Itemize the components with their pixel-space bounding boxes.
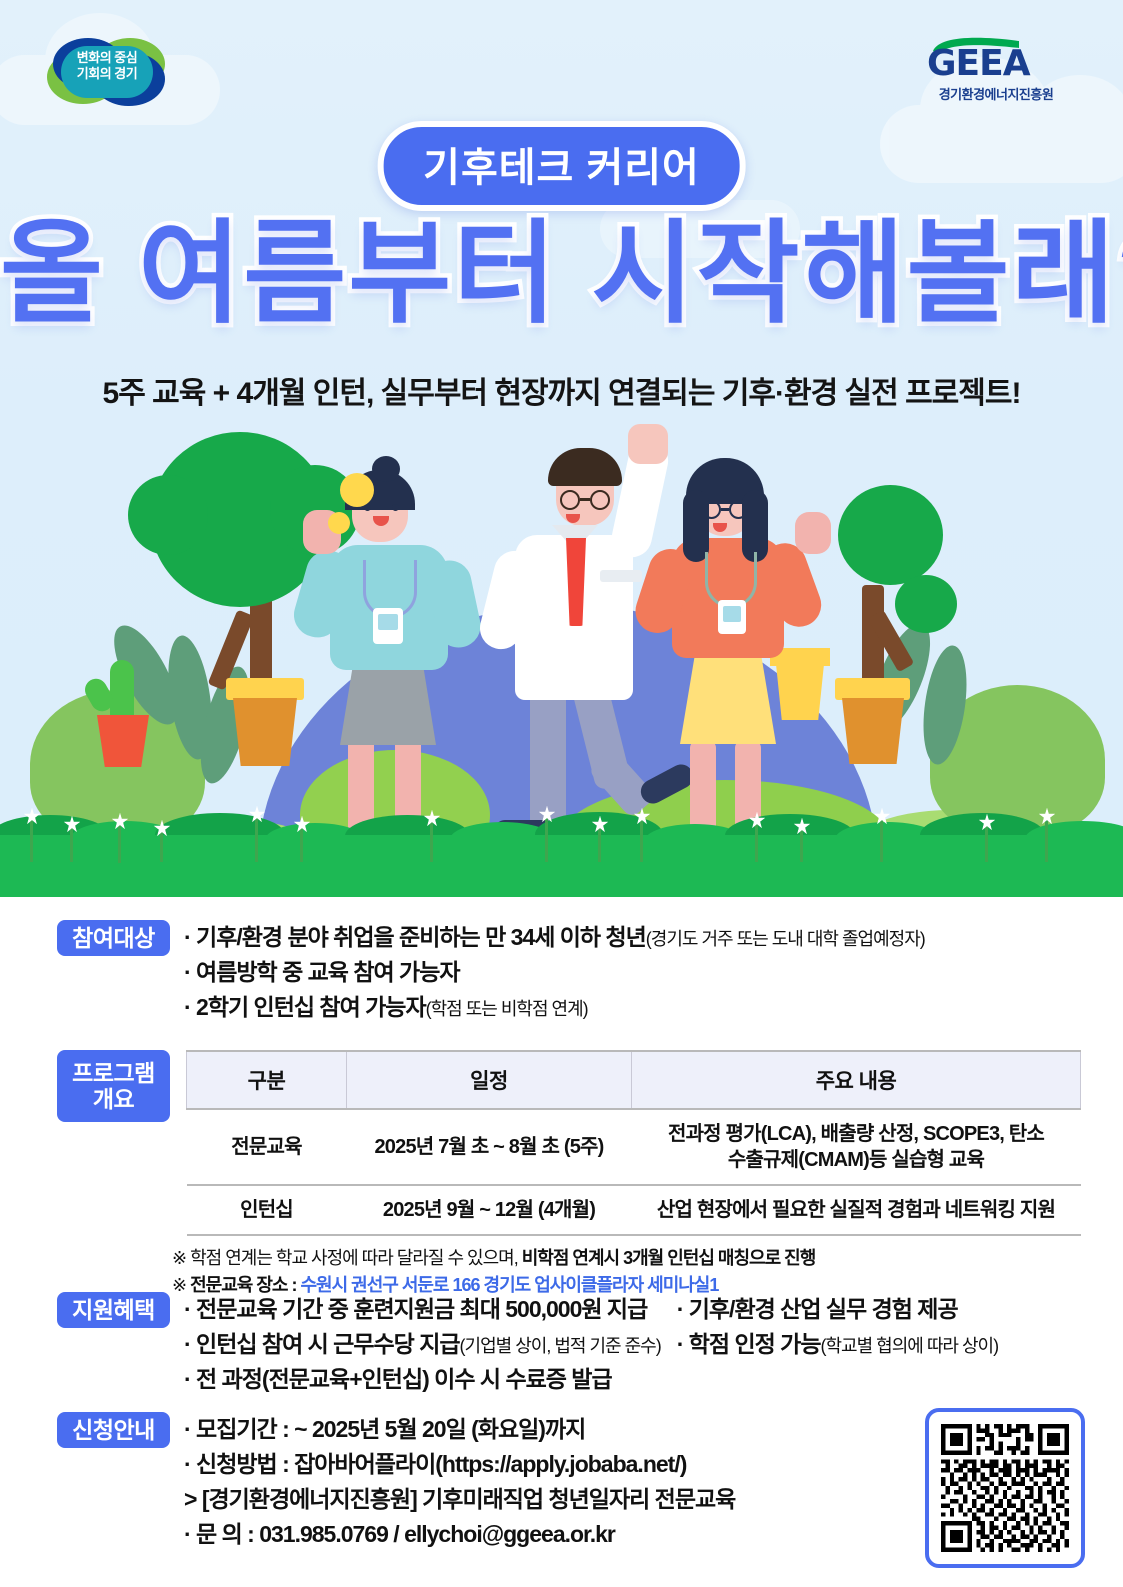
list-item: · 2학기 인턴십 참여 가능자(학점 또는 비학점 연계) — [184, 990, 925, 1025]
list-item-main: · 여름방학 중 교육 참여 가능자 — [184, 959, 460, 985]
flower-icon — [112, 813, 128, 829]
list-item-main: · 전 과정(전문교육+인턴십) 이수 시 수료증 발급 — [184, 1366, 612, 1392]
note-line: ※ 학점 연계는 학교 사정에 따라 달라질 수 있으며, 비학점 연계시 3개… — [172, 1245, 815, 1272]
table-cell: 산업 현장에서 필요한 실질적 경험과 네트워킹 지원 — [632, 1185, 1081, 1235]
ggeea-logo-mark-icon: GEEA — [921, 35, 1071, 81]
list-item: · 여름방학 중 교육 참여 가능자 — [184, 955, 925, 990]
flower-pot-rim — [226, 678, 304, 700]
list-item: > [경기환경에너지진흥원] 기후미래직업 청년일자리 전문교육 — [184, 1482, 735, 1517]
list-item-main: · 전문교육 기간 중 훈련지원금 최대 500,000원 지급 — [184, 1296, 647, 1322]
section-benefits: 지원혜택 · 전문교육 기간 중 훈련지원금 최대 500,000원 지급 · … — [57, 1292, 998, 1397]
list-item-main: · 학점 인정 가능 — [677, 1331, 821, 1357]
flower-icon — [424, 810, 440, 826]
flower-icon — [794, 818, 810, 834]
page-subtitle: 5주 교육 + 4개월 인턴, 실무부터 현장까지 연결되는 기후·환경 실전 … — [0, 368, 1123, 412]
ggeea-logo: GEEA 경기환경에너지진흥원 — [921, 35, 1071, 103]
list-item-main: · 2학기 인턴십 참여 가능자 — [184, 994, 426, 1020]
program-notes: ※ 학점 연계는 학교 사정에 따라 달라질 수 있으며, 비학점 연계시 3개… — [172, 1245, 815, 1299]
qr-code[interactable] — [925, 1408, 1085, 1568]
flower-icon — [979, 814, 995, 830]
table-cell: 2025년 7월 초 ~ 8월 초 (5주) — [347, 1109, 632, 1185]
flower-icon — [154, 820, 170, 836]
list-item: · 모집기간 : ~ 2025년 5월 20일 (화요일)까지 — [184, 1412, 735, 1447]
list-item-note: (경기도 거주 또는 도내 대학 졸업예정자) — [646, 929, 925, 949]
note-prefix: ※ 학점 연계는 학교 사정에 따라 달라질 수 있으며, — [172, 1248, 522, 1268]
list-item-main: · 기후/환경 산업 실무 경험 제공 — [677, 1296, 958, 1322]
flower-icon — [294, 816, 310, 832]
table-cell: 2025년 9월 ~ 12월 (4개월) — [347, 1185, 632, 1235]
tree-crown — [128, 475, 208, 555]
hero-banner: 변화의 중심 기회의 경기 GEEA 경기환경에너지진흥원 기후테크 커리어 올… — [0, 0, 1123, 897]
list-item-note: (학점 또는 비학점 연계) — [426, 999, 588, 1019]
note-bold: 비학점 연계시 3개월 인턴십 매칭으로 진행 — [522, 1248, 816, 1268]
list-item[interactable]: · 신청방법 : 잡아바어플라이(https://apply.jobaba.ne… — [184, 1447, 735, 1482]
section-target: 참여대상 · 기후/환경 분야 취업을 준비하는 만 34세 이하 청년(경기도… — [57, 920, 925, 1025]
table-row: 인턴십 2025년 9월 ~ 12월 (4개월) 산업 현장에서 필요한 실질적… — [187, 1185, 1081, 1235]
table-cell: 전과정 평가(LCA), 배출량 산정, SCOPE3, 탄소 수출규제(CMA… — [632, 1109, 1081, 1185]
flower-pot — [776, 664, 824, 720]
cloud-decoration — [880, 105, 1123, 183]
section-badge-program-line1: 프로그램 — [72, 1060, 155, 1086]
list-item-main: · 기후/환경 분야 취업을 준비하는 만 34세 이하 청년 — [184, 924, 646, 950]
flower-icon — [874, 808, 890, 824]
qr-code-icon — [941, 1424, 1069, 1552]
target-list: · 기후/환경 분야 취업을 준비하는 만 34세 이하 청년(경기도 거주 또… — [184, 920, 925, 1025]
list-item: · 전문교육 기간 중 훈련지원금 최대 500,000원 지급 — [184, 1292, 661, 1327]
illustration-scene — [0, 420, 1123, 897]
benefits-left-column: · 전문교육 기간 중 훈련지원금 최대 500,000원 지급 · 인턴십 참… — [184, 1292, 661, 1397]
list-item: · 학점 인정 가능(학교별 협의에 따라 상이) — [677, 1327, 998, 1362]
flower-icon — [592, 816, 608, 832]
table-header-cell: 구분 — [187, 1051, 347, 1109]
flower-icon — [249, 806, 265, 822]
table-header-row: 구분 일정 주요 내용 — [187, 1051, 1081, 1109]
flower-icon — [749, 812, 765, 828]
list-item: · 전 과정(전문교육+인턴십) 이수 시 수료증 발급 — [184, 1362, 661, 1397]
section-badge-target: 참여대상 — [57, 920, 170, 956]
list-item: · 문 의 : 031.985.0769 / ellychoi@ggeea.or… — [184, 1517, 735, 1552]
list-item: · 인턴십 참여 시 근무수당 지급(기업별 상이, 법적 기준 준수) — [184, 1327, 661, 1362]
table-cell: 전문교육 — [187, 1109, 347, 1185]
flower-icon — [634, 808, 650, 824]
flower-icon — [1039, 808, 1055, 824]
section-apply: 신청안내 · 모집기간 : ~ 2025년 5월 20일 (화요일)까지 · 신… — [57, 1412, 735, 1552]
campaign-pill-label: 기후테크 커리어 — [377, 121, 746, 211]
table-cell: 인턴십 — [187, 1185, 347, 1235]
page-headline: 올 여름부터 시작해볼래? — [0, 215, 1123, 333]
tree-crown — [838, 485, 943, 585]
section-program: 프로그램 개요 구분 일정 주요 내용 전문교육 2025년 7월 초 ~ 8월… — [57, 1050, 1081, 1236]
benefits-right-column: · 기후/환경 산업 실무 경험 제공 · 학점 인정 가능(학교별 협의에 따… — [677, 1292, 998, 1397]
list-item-note: (학교별 협의에 따라 상이) — [820, 1336, 998, 1356]
svg-text:GEEA: GEEA — [927, 43, 1031, 81]
flower-icon — [24, 808, 40, 824]
section-badge-benefits: 지원혜택 — [57, 1292, 170, 1328]
hedge-base — [0, 835, 1123, 897]
list-item-note: (기업별 상이, 법적 기준 준수) — [460, 1336, 661, 1356]
list-item-main: · 인턴십 참여 시 근무수당 지급 — [184, 1331, 460, 1357]
list-item: · 기후/환경 분야 취업을 준비하는 만 34세 이하 청년(경기도 거주 또… — [184, 920, 925, 955]
gyeonggi-logo: 변화의 중심 기회의 경기 — [47, 36, 167, 108]
flower-icon — [539, 806, 555, 822]
flower-pot — [842, 698, 904, 764]
ggeea-logo-name: 경기환경에너지진흥원 — [921, 84, 1071, 103]
gyeonggi-logo-line2: 기회의 경기 — [61, 66, 153, 82]
list-item: · 기후/환경 산업 실무 경험 제공 — [677, 1292, 998, 1327]
flower-pot — [97, 715, 149, 767]
flower-pot — [233, 698, 297, 766]
program-table: 구분 일정 주요 내용 전문교육 2025년 7월 초 ~ 8월 초 (5주) … — [186, 1050, 1081, 1236]
table-header-cell: 일정 — [347, 1051, 632, 1109]
gyeonggi-logo-line1: 변화의 중심 — [61, 50, 153, 66]
flower-pot-rim — [835, 678, 910, 700]
table-header-cell: 주요 내용 — [632, 1051, 1081, 1109]
tree-crown — [895, 575, 957, 633]
table-row: 전문교육 2025년 7월 초 ~ 8월 초 (5주) 전과정 평가(LCA),… — [187, 1109, 1081, 1185]
flower-icon — [64, 816, 80, 832]
gyeonggi-logo-text: 변화의 중심 기회의 경기 — [61, 50, 153, 83]
section-badge-program: 프로그램 개요 — [57, 1050, 170, 1122]
section-badge-program-line2: 개요 — [93, 1086, 134, 1112]
apply-list: · 모집기간 : ~ 2025년 5월 20일 (화요일)까지 · 신청방법 :… — [184, 1412, 735, 1552]
section-badge-apply: 신청안내 — [57, 1412, 170, 1448]
